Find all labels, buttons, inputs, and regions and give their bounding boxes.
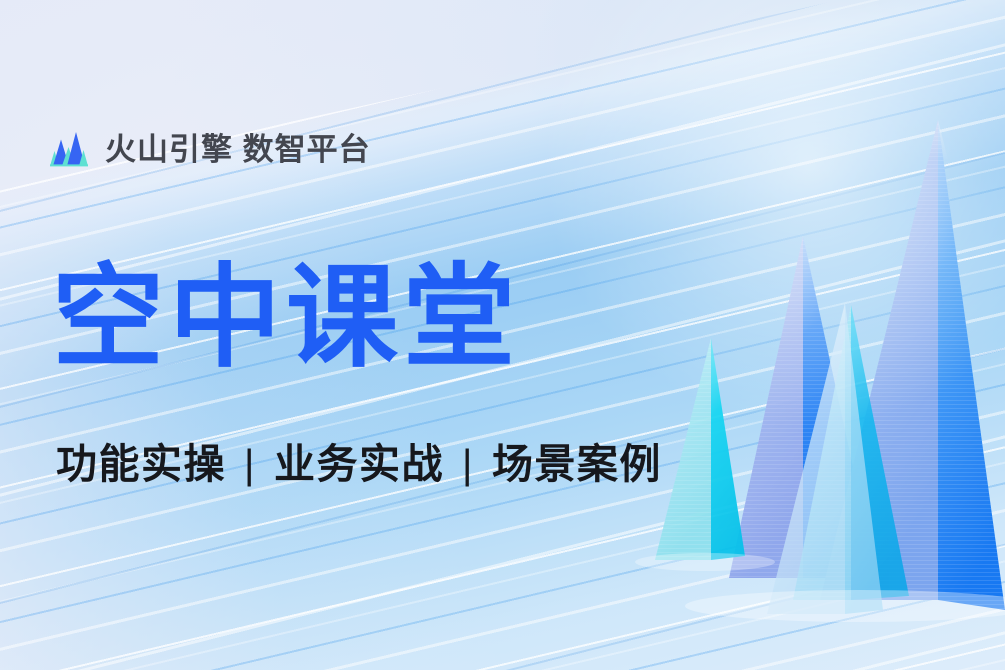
course-banner: 火山引擎 数智平台 空中课堂 功能实操 | 业务实战 | 场景案例: [0, 0, 1005, 670]
subtitle: 功能实操 | 业务实战 | 场景案例: [56, 444, 662, 485]
volcano-mountain-icon: [46, 126, 92, 172]
brand-name: 火山引擎 数智平台: [105, 134, 371, 165]
brand-lockup: 火山引擎 数智平台: [46, 126, 371, 172]
subtitle-item-1: 业务实战: [274, 441, 444, 487]
page-title: 空中课堂: [52, 262, 520, 374]
subtitle-separator-1: |: [457, 441, 479, 487]
subtitle-item-2: 场景案例: [492, 441, 662, 487]
subtitle-item-0: 功能实操: [56, 441, 226, 487]
subtitle-separator-0: |: [239, 441, 261, 487]
